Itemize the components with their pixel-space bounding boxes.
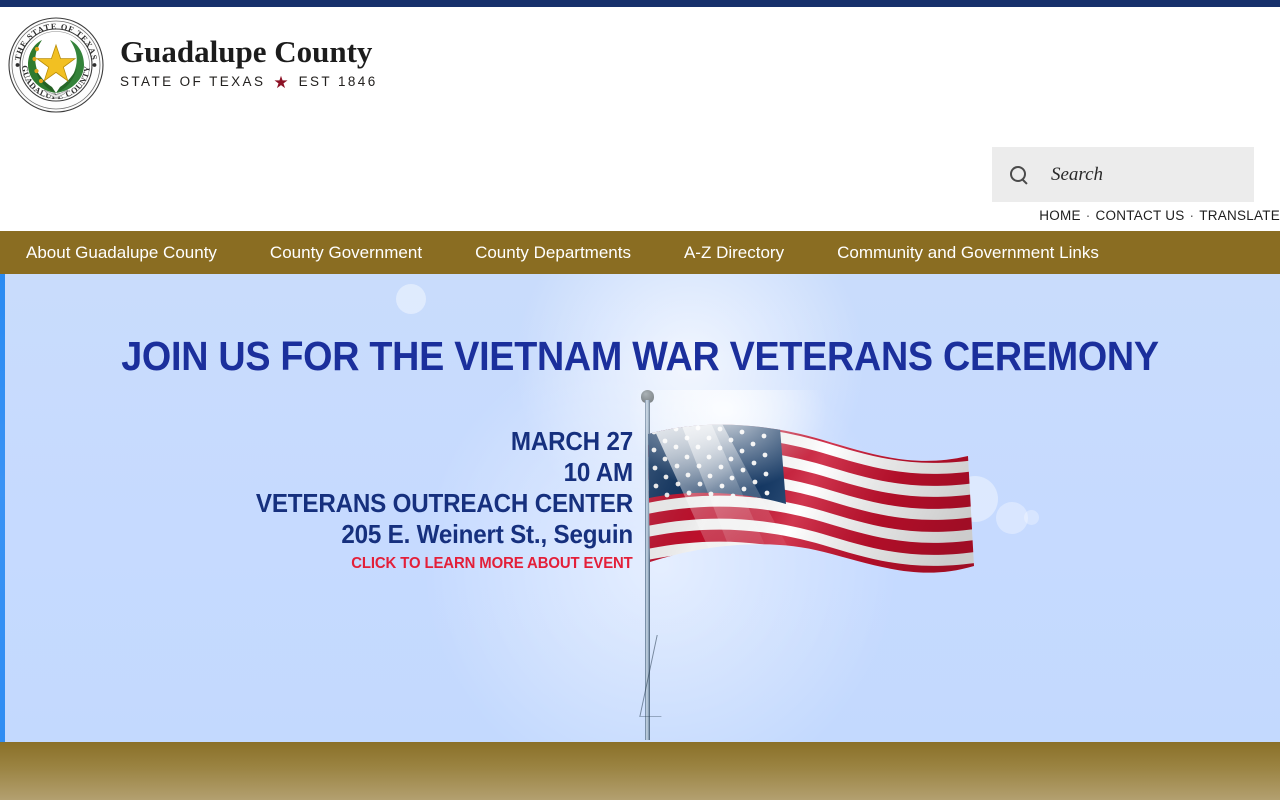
- lens-flare-icon: [396, 284, 426, 314]
- site-logo[interactable]: THE STATE OF TEXAS GUADALUPE COUNTY: [6, 15, 378, 115]
- event-time: 10 AM: [44, 457, 633, 488]
- hero-banner[interactable]: JOIN US FOR THE VIETNAM WAR VETERANS CER…: [0, 274, 1280, 742]
- star-icon: ★: [273, 73, 288, 93]
- site-header: THE STATE OF TEXAS GUADALUPE COUNTY: [0, 7, 1280, 206]
- search-box[interactable]: [992, 147, 1254, 202]
- tagline-est: EST 1846: [299, 74, 378, 89]
- page-root: THE STATE OF TEXAS GUADALUPE COUNTY: [0, 0, 1280, 800]
- logo-text-block: Guadalupe County STATE OF TEXAS ★ EST 18…: [120, 35, 378, 92]
- lens-flare-icon: [1024, 510, 1039, 525]
- utility-link-home[interactable]: HOME: [1039, 208, 1081, 223]
- event-address: 205 E. Weinert St., Seguin: [44, 519, 633, 550]
- utility-link-contact-us[interactable]: CONTACT US: [1095, 208, 1184, 223]
- search-input[interactable]: [1051, 164, 1246, 186]
- nav-item-county-departments[interactable]: County Departments: [475, 243, 631, 263]
- nav-item-a-z-directory[interactable]: A-Z Directory: [684, 243, 784, 263]
- nav-item-about-guadalupe-county[interactable]: About Guadalupe County: [26, 243, 217, 263]
- nav-item-county-government[interactable]: County Government: [270, 243, 422, 263]
- main-navigation: About Guadalupe County County Government…: [0, 231, 1280, 274]
- event-learn-more-link[interactable]: CLICK TO LEARN MORE ABOUT EVENT: [352, 554, 633, 573]
- top-accent-bar: [0, 0, 1280, 7]
- utility-separator-2: ·: [1189, 208, 1194, 223]
- lens-flare-icon: [996, 502, 1028, 534]
- site-tagline: STATE OF TEXAS ★ EST 1846: [120, 72, 378, 92]
- nav-item-community-and-government-links[interactable]: Community and Government Links: [837, 243, 1099, 263]
- us-flag-icon: [648, 416, 978, 616]
- utility-separator-1: ·: [1086, 208, 1091, 223]
- utility-links: HOME · CONTACT US · TRANSLATE: [0, 208, 1280, 230]
- utility-link-translate[interactable]: TRANSLATE: [1199, 208, 1280, 223]
- american-flag-image: [630, 390, 990, 740]
- event-venue: VETERANS OUTREACH CENTER: [44, 488, 633, 519]
- event-date: MARCH 27: [44, 426, 633, 457]
- tagline-state: STATE OF TEXAS: [120, 74, 265, 89]
- site-title: Guadalupe County: [120, 35, 378, 69]
- footer-gold-band: [0, 742, 1280, 800]
- hero-event-details: MARCH 27 10 AM VETERANS OUTREACH CENTER …: [0, 426, 633, 573]
- search-icon[interactable]: [1009, 165, 1029, 185]
- hero-headline: JOIN US FOR THE VIETNAM WAR VETERANS CER…: [51, 334, 1229, 378]
- texas-state-seal-icon: THE STATE OF TEXAS GUADALUPE COUNTY: [6, 15, 106, 115]
